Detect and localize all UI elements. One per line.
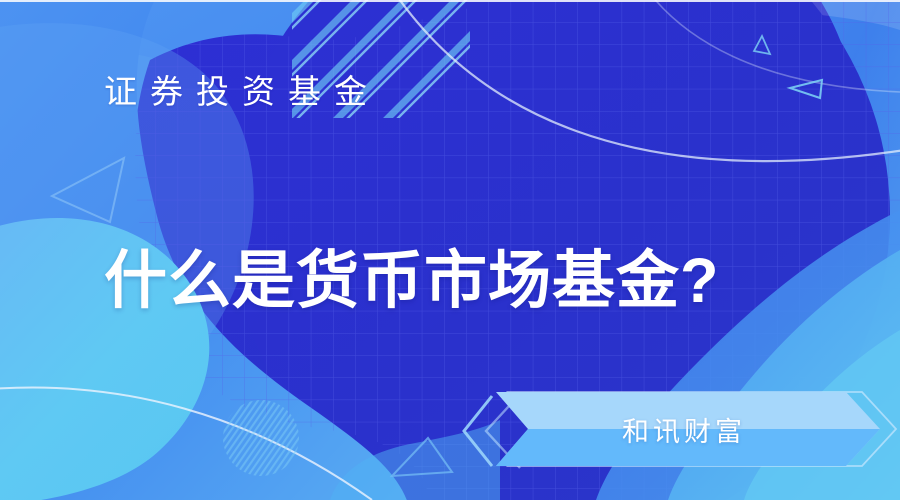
brand-badge-label: 和讯财富	[470, 392, 890, 466]
poster-canvas: 证券投资基金 什么是货币市场基金? 和讯财富	[0, 0, 900, 500]
poster-subtitle: 证券投资基金	[104, 74, 380, 110]
brand-badge[interactable]: 和讯财富	[470, 392, 890, 466]
poster-headline: 什么是货币市场基金?	[104, 248, 719, 314]
text-layer: 证券投资基金 什么是货币市场基金? 和讯财富	[0, 0, 900, 500]
